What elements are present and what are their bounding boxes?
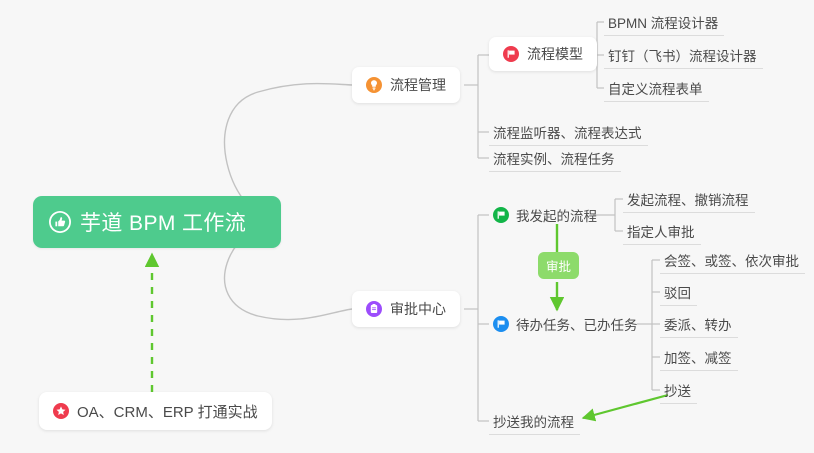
leaf-node-cc[interactable]: 抄送: [660, 376, 697, 404]
leaf-label-countersign-orsign-sequential: 会签、或签、依次审批: [664, 250, 799, 270]
root-label: 芋道 BPM 工作流: [80, 207, 246, 237]
branch-label-process-model: 流程模型: [527, 44, 583, 64]
branch-node-approval-center[interactable]: 审批中心: [352, 291, 460, 327]
leaf-label-my-initiated-process: 我发起的流程: [516, 205, 597, 225]
branch-label-approval-center: 审批中心: [390, 299, 446, 319]
root-node[interactable]: 芋道 BPM 工作流: [33, 196, 281, 248]
leaf-label-bpmn-designer: BPMN 流程设计器: [608, 12, 718, 32]
leaf-label-process-listener-expression: 流程监听器、流程表达式: [493, 122, 642, 142]
leaf-node-reject[interactable]: 驳回: [660, 278, 697, 306]
leaf-label-add-remove-sign: 加签、减签: [664, 347, 732, 367]
leaf-label-process-instance-task: 流程实例、流程任务: [493, 148, 615, 168]
flag-circle-icon: [493, 316, 509, 332]
leaf-node-process-instance-task[interactable]: 流程实例、流程任务: [489, 144, 621, 172]
leaf-node-cc-to-me-process[interactable]: 抄送我的流程: [489, 407, 580, 435]
thumbs-up-circle-icon: [49, 211, 71, 233]
leaf-label-dingtalk-feishu-designer: 钉钉（飞书）流程设计器: [608, 45, 757, 65]
branch-node-process-model[interactable]: 流程模型: [489, 37, 597, 71]
leaf-node-process-listener-expression[interactable]: 流程监听器、流程表达式: [489, 118, 648, 146]
leaf-node-add-remove-sign[interactable]: 加签、减签: [660, 343, 738, 371]
leaf-label-custom-process-form: 自定义流程表单: [608, 78, 703, 98]
leaf-label-assignee-approval: 指定人审批: [627, 221, 695, 241]
leaf-node-assignee-approval[interactable]: 指定人审批: [623, 217, 701, 245]
lightbulb-circle-icon: [366, 77, 382, 93]
leaf-node-custom-process-form[interactable]: 自定义流程表单: [604, 74, 709, 102]
leaf-label-start-cancel-process: 发起流程、撤销流程: [627, 189, 749, 209]
star-circle-icon: [53, 403, 69, 419]
branch-label-process-management: 流程管理: [390, 75, 446, 95]
leaf-label-cc-to-me-process: 抄送我的流程: [493, 411, 574, 431]
leaf-node-delegate-transfer[interactable]: 委派、转办: [660, 310, 738, 338]
footer-node-label: OA、CRM、ERP 打通实战: [77, 401, 258, 422]
flag-circle-icon: [493, 207, 509, 223]
clipboard-circle-icon: [366, 301, 382, 317]
leaf-label-reject: 驳回: [664, 282, 691, 302]
leaf-node-my-initiated-process[interactable]: 我发起的流程: [489, 201, 603, 229]
mindmap-canvas: 芋道 BPM 工作流 流程管理 流程模型 BPMN 流程设计器 钉钉（飞书: [0, 0, 814, 453]
leaf-label-todo-done-task: 待办任务、已办任务: [516, 314, 638, 334]
footer-node-oa-crm-erp[interactable]: OA、CRM、ERP 打通实战: [39, 392, 272, 430]
annotation-approval-label: 审批: [546, 256, 571, 275]
branch-node-process-management[interactable]: 流程管理: [352, 67, 460, 103]
leaf-node-dingtalk-feishu-designer[interactable]: 钉钉（飞书）流程设计器: [604, 41, 763, 69]
flag-circle-icon: [503, 46, 519, 62]
annotation-approval: 审批: [538, 252, 579, 279]
leaf-label-delegate-transfer: 委派、转办: [664, 314, 732, 334]
leaf-node-todo-done-task[interactable]: 待办任务、已办任务: [489, 310, 644, 338]
leaf-node-countersign-orsign-sequential[interactable]: 会签、或签、依次审批: [660, 246, 805, 274]
leaf-node-bpmn-designer[interactable]: BPMN 流程设计器: [604, 8, 724, 36]
leaf-label-cc: 抄送: [664, 380, 691, 400]
leaf-node-start-cancel-process[interactable]: 发起流程、撤销流程: [623, 185, 755, 213]
